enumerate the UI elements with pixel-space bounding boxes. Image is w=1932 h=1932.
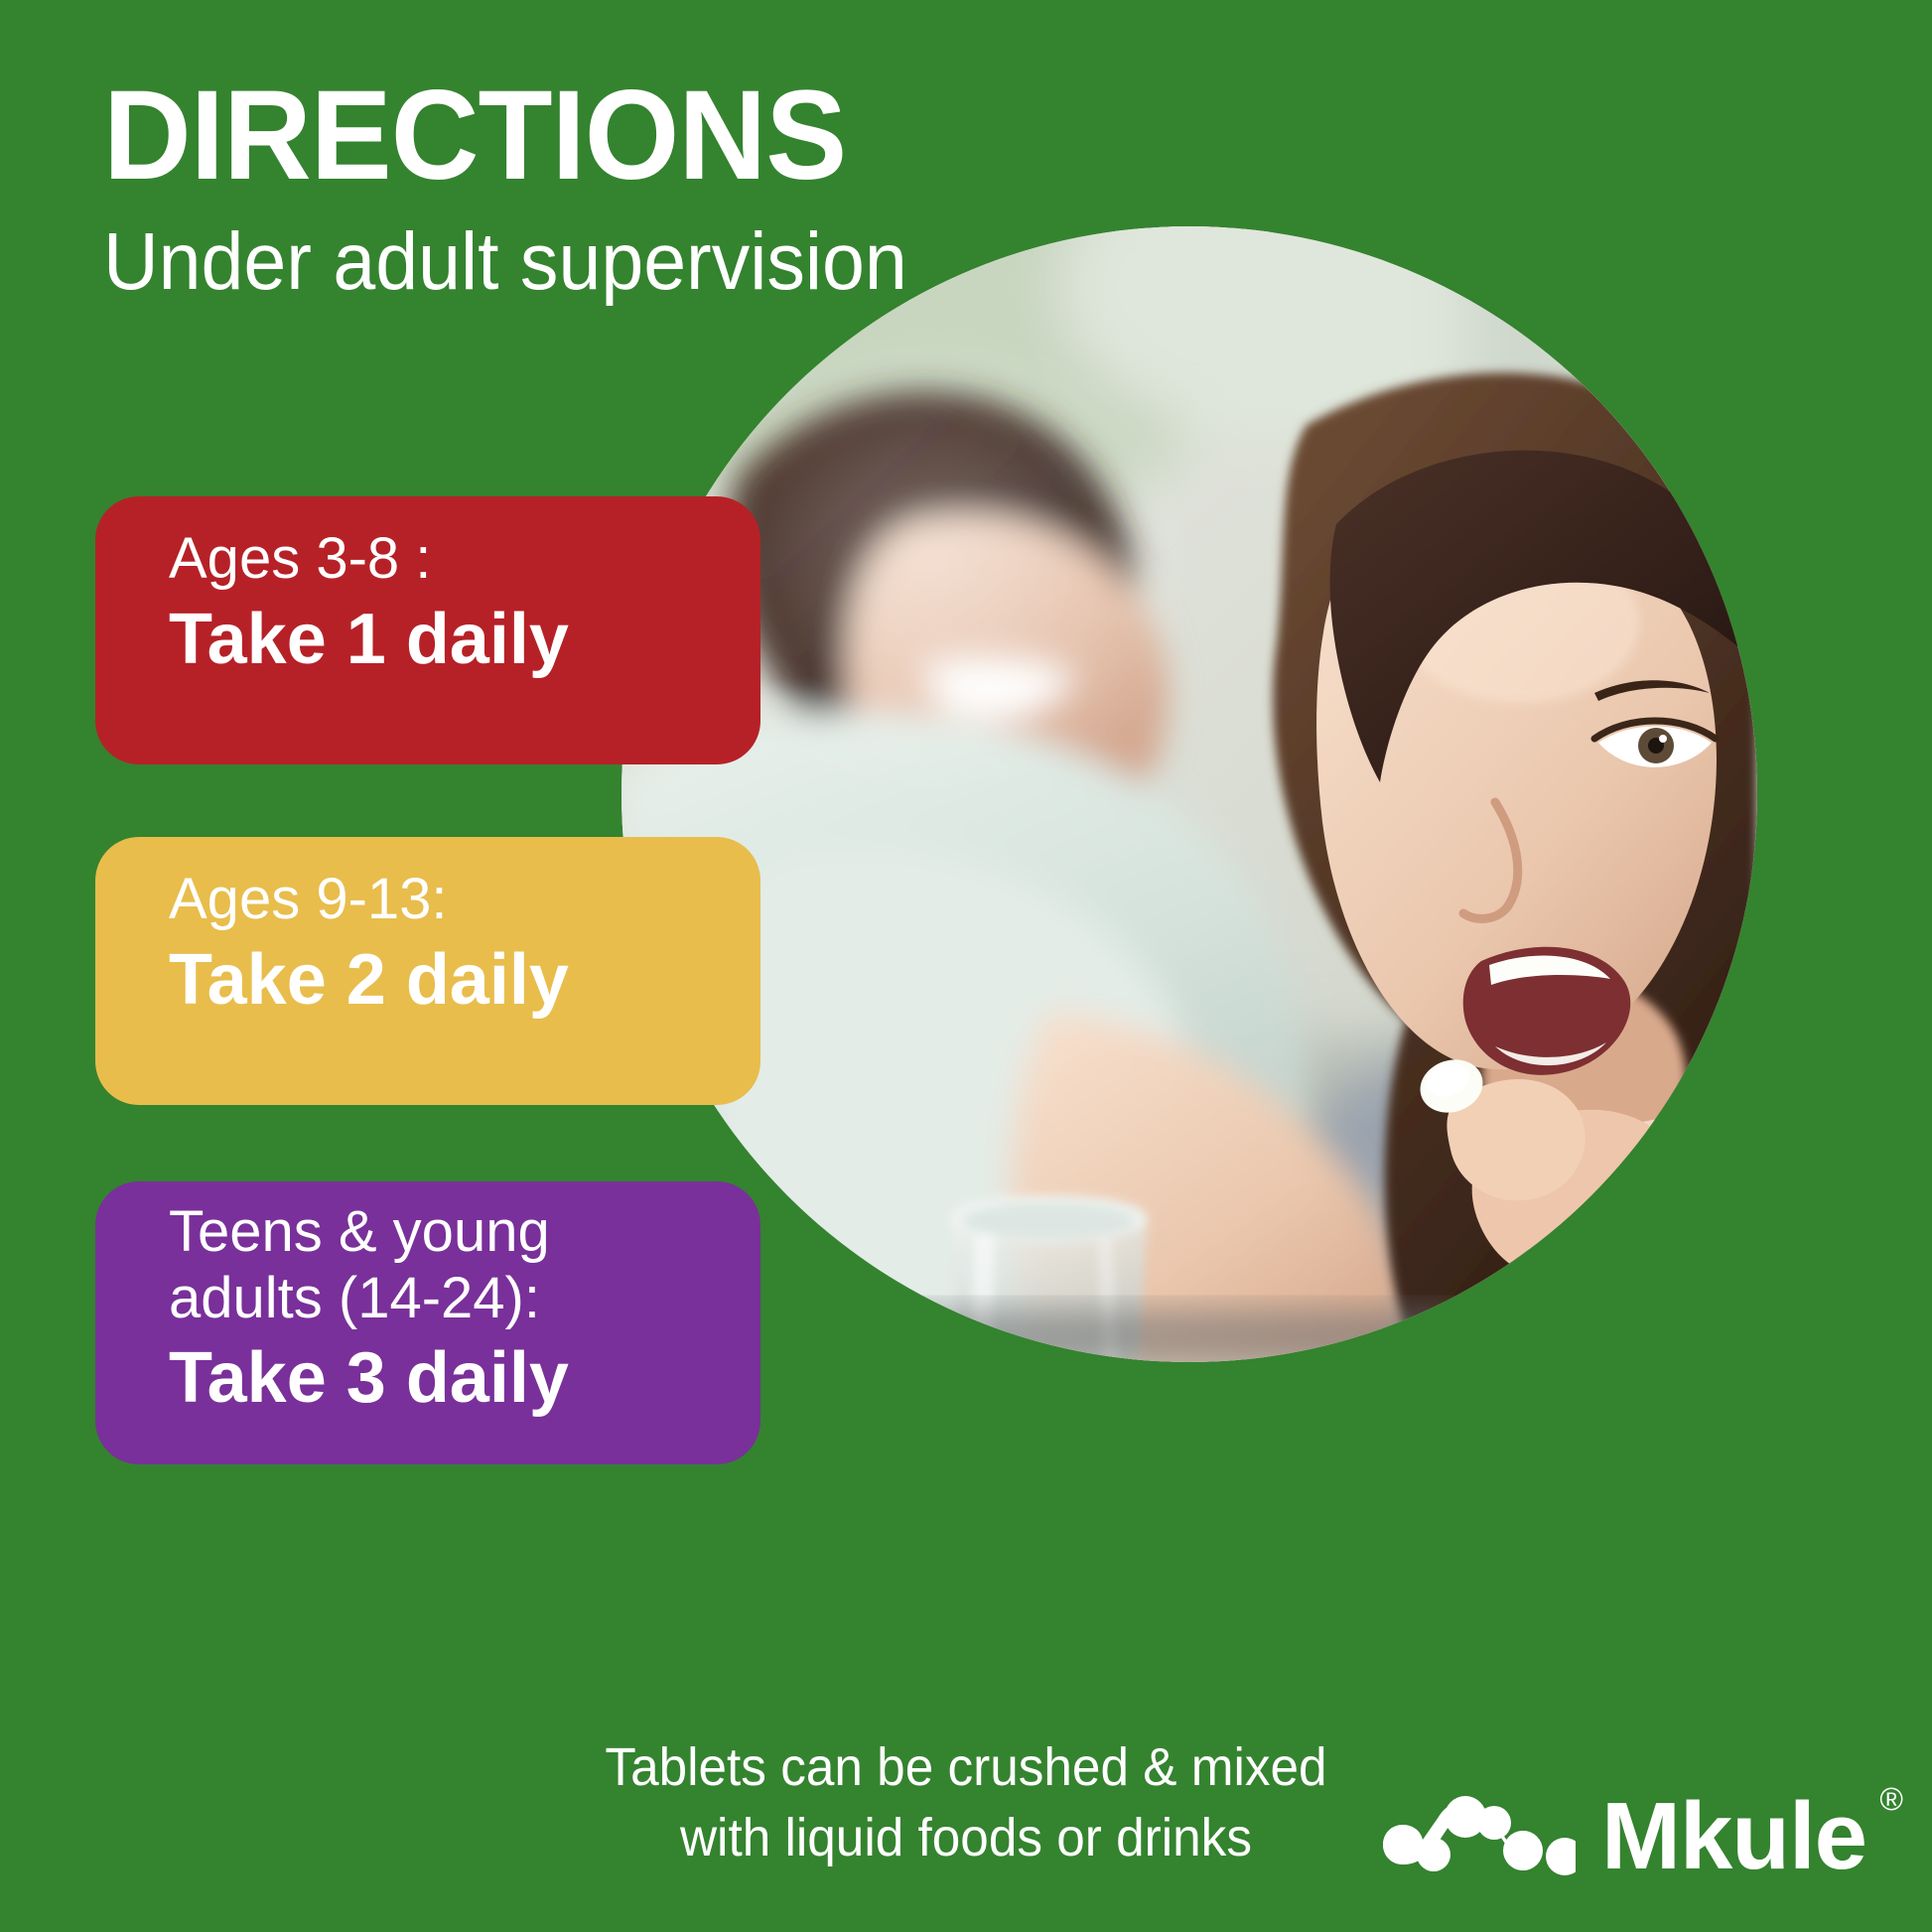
poster-canvas: DIRECTIONS Under adult supervision Ages … — [0, 0, 1932, 1932]
page-subtitle: Under adult supervision — [103, 217, 907, 307]
dosage-age-label: Ages 3-8 : — [169, 526, 760, 593]
dosage-pill-ages-3-8: Ages 3-8 : Take 1 daily — [95, 496, 760, 764]
dosage-dose-label: Take 3 daily — [169, 1337, 760, 1419]
page-title: DIRECTIONS — [103, 71, 924, 202]
registered-trademark-symbol: ® — [1879, 1783, 1902, 1815]
dosage-dose-label: Take 1 daily — [169, 599, 760, 680]
brand-wordmark: Mkule ® — [1601, 1789, 1866, 1884]
brand-wordmark-text: Mkule — [1601, 1783, 1866, 1889]
lifestyle-photo — [621, 226, 1757, 1362]
dosage-age-label: Ages 9-13: — [169, 867, 760, 933]
brand-logo: Mkule ® — [1381, 1789, 1866, 1884]
mkule-node-mark-icon — [1381, 1795, 1576, 1878]
photo-illustration — [621, 226, 1757, 1362]
dosage-pill-ages-9-13: Ages 9-13: Take 2 daily — [95, 837, 760, 1105]
dosage-dose-label: Take 2 daily — [169, 939, 760, 1021]
dosage-age-label: Teens & young adults (14-24): — [169, 1199, 760, 1331]
dosage-pill-teens-young-adults: Teens & young adults (14-24): Take 3 dai… — [95, 1181, 760, 1464]
header-block: DIRECTIONS Under adult supervision — [103, 71, 958, 307]
